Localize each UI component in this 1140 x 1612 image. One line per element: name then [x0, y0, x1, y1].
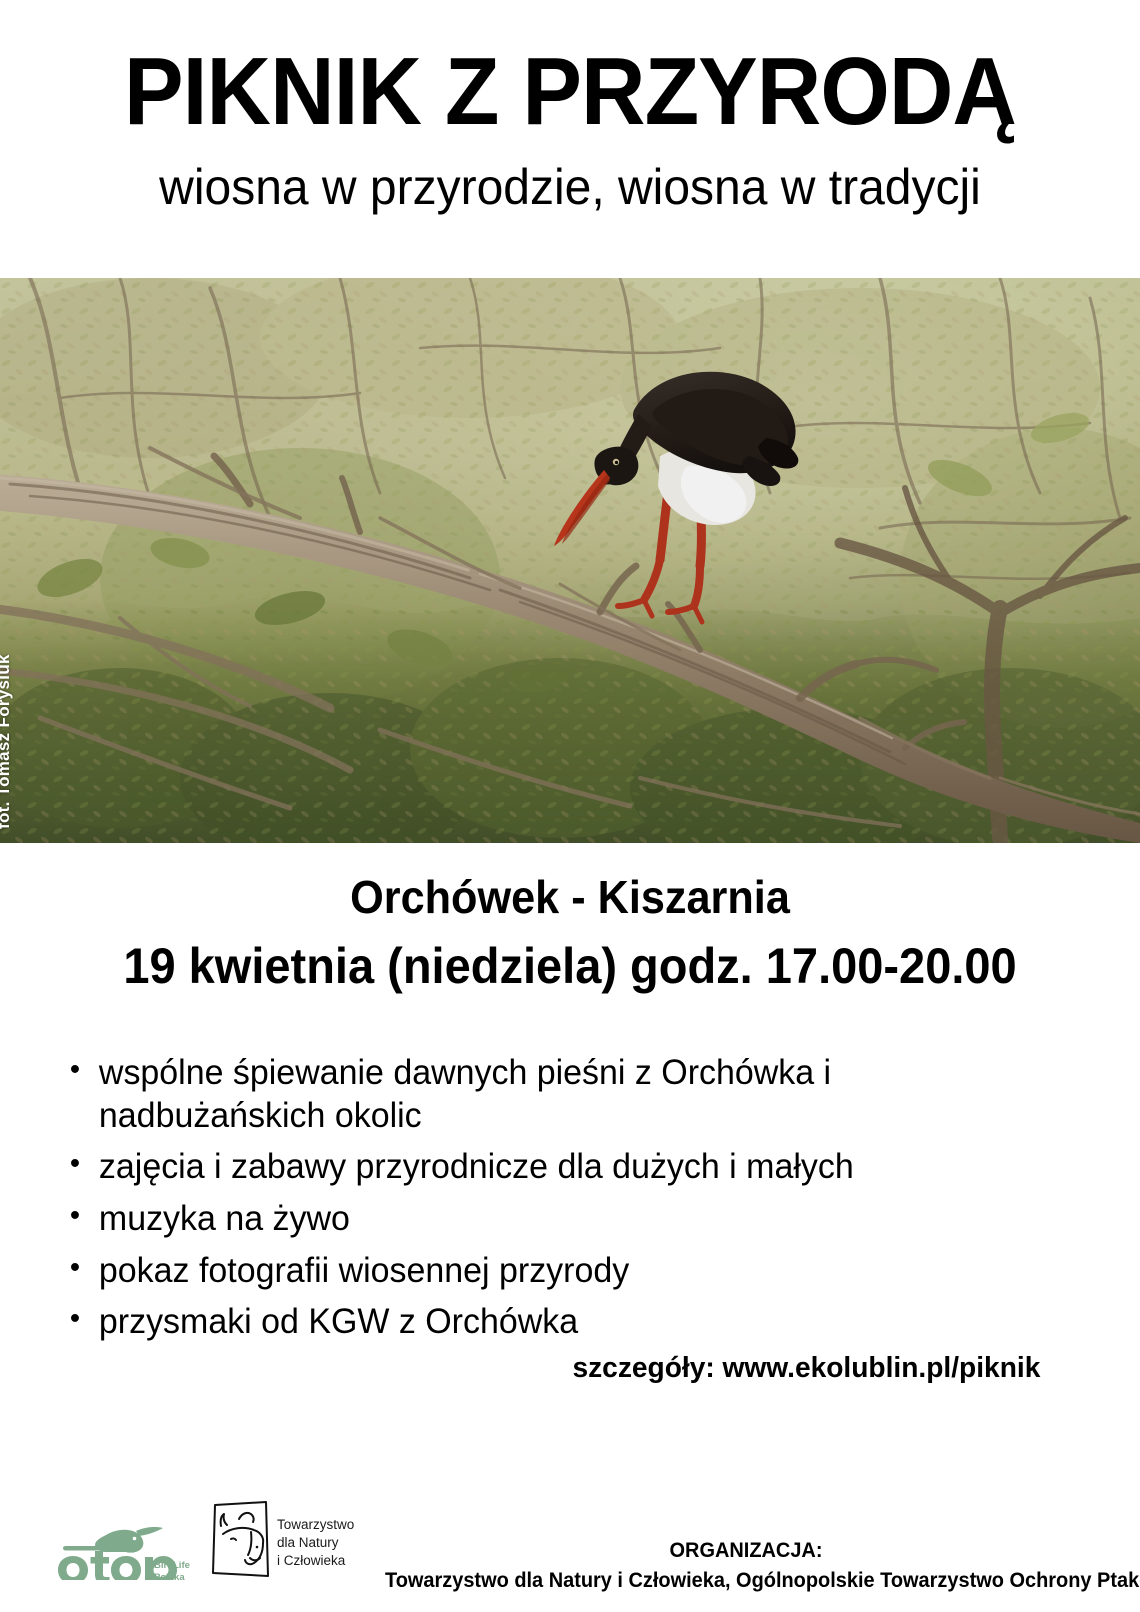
- black-stork-photo-illustration: [0, 278, 1140, 843]
- organizer-block: ORGANIZACJA: Towarzystwo dla Natury i Cz…: [366, 1538, 1126, 1594]
- poster-header: PIKNIK Z PRZYRODĄ wiosna w przyrodzie, w…: [0, 0, 1140, 212]
- towarzystwo-name-line3: i Człowieka: [277, 1553, 346, 1568]
- poster-footer: BirdLife Polska: [0, 1480, 1140, 1612]
- list-item: wspólne śpiewanie dawnych pieśni z Orchó…: [64, 1052, 1034, 1137]
- list-item: przysmaki od KGW z Orchówka: [64, 1301, 1034, 1344]
- list-item: muzyka na żywo: [64, 1198, 1034, 1241]
- poster: PIKNIK Z PRZYRODĄ wiosna w przyrodzie, w…: [0, 0, 1140, 1612]
- otop-logo-mark: BirdLife Polska: [56, 1522, 191, 1580]
- page-subtitle: wiosna w przyrodzie, wiosna w tradycji: [23, 162, 1117, 212]
- page-title: PIKNIK Z PRZYRODĄ: [40, 44, 1100, 140]
- otop-tagline-line2: Polska: [154, 1572, 185, 1580]
- program-section: wspólne śpiewanie dawnych pieśni z Orchó…: [64, 1052, 1064, 1353]
- otop-logo: BirdLife Polska: [56, 1522, 191, 1580]
- photo-credit: fot. Tomasz Forysiuk: [0, 654, 14, 829]
- list-item: pokaz fotografii wiosennej przyrody: [64, 1250, 1034, 1293]
- towarzystwo-name-line1: Towarzystwo: [277, 1517, 354, 1532]
- towarzystwo-logo-mark: Towarzystwo dla Natury i Człowieka: [208, 1495, 368, 1585]
- details-url[interactable]: szczegóły: www.ekolublin.pl/piknik: [572, 1352, 1040, 1385]
- event-details: Orchówek - Kiszarnia 19 kwietnia (niedzi…: [0, 872, 1140, 994]
- hero-photo: fot. Tomasz Forysiuk: [0, 278, 1140, 843]
- organization-label: ORGANIZACJA:: [385, 1538, 1107, 1563]
- towarzystwo-name-line2: dla Natury: [277, 1535, 339, 1550]
- towarzystwo-logo: Towarzystwo dla Natury i Człowieka: [208, 1495, 368, 1585]
- list-item: zajęcia i zabawy przyrodnicze dla dużych…: [64, 1146, 1034, 1189]
- program-list: wspólne śpiewanie dawnych pieśni z Orchó…: [64, 1052, 1064, 1344]
- event-date-time: 19 kwietnia (niedziela) godz. 17.00-20.0…: [34, 939, 1106, 994]
- event-location: Orchówek - Kiszarnia: [34, 872, 1106, 923]
- organization-names: Towarzystwo dla Natury i Człowieka, Ogól…: [385, 1568, 1107, 1594]
- otop-tagline-line1: BirdLife: [154, 1560, 190, 1571]
